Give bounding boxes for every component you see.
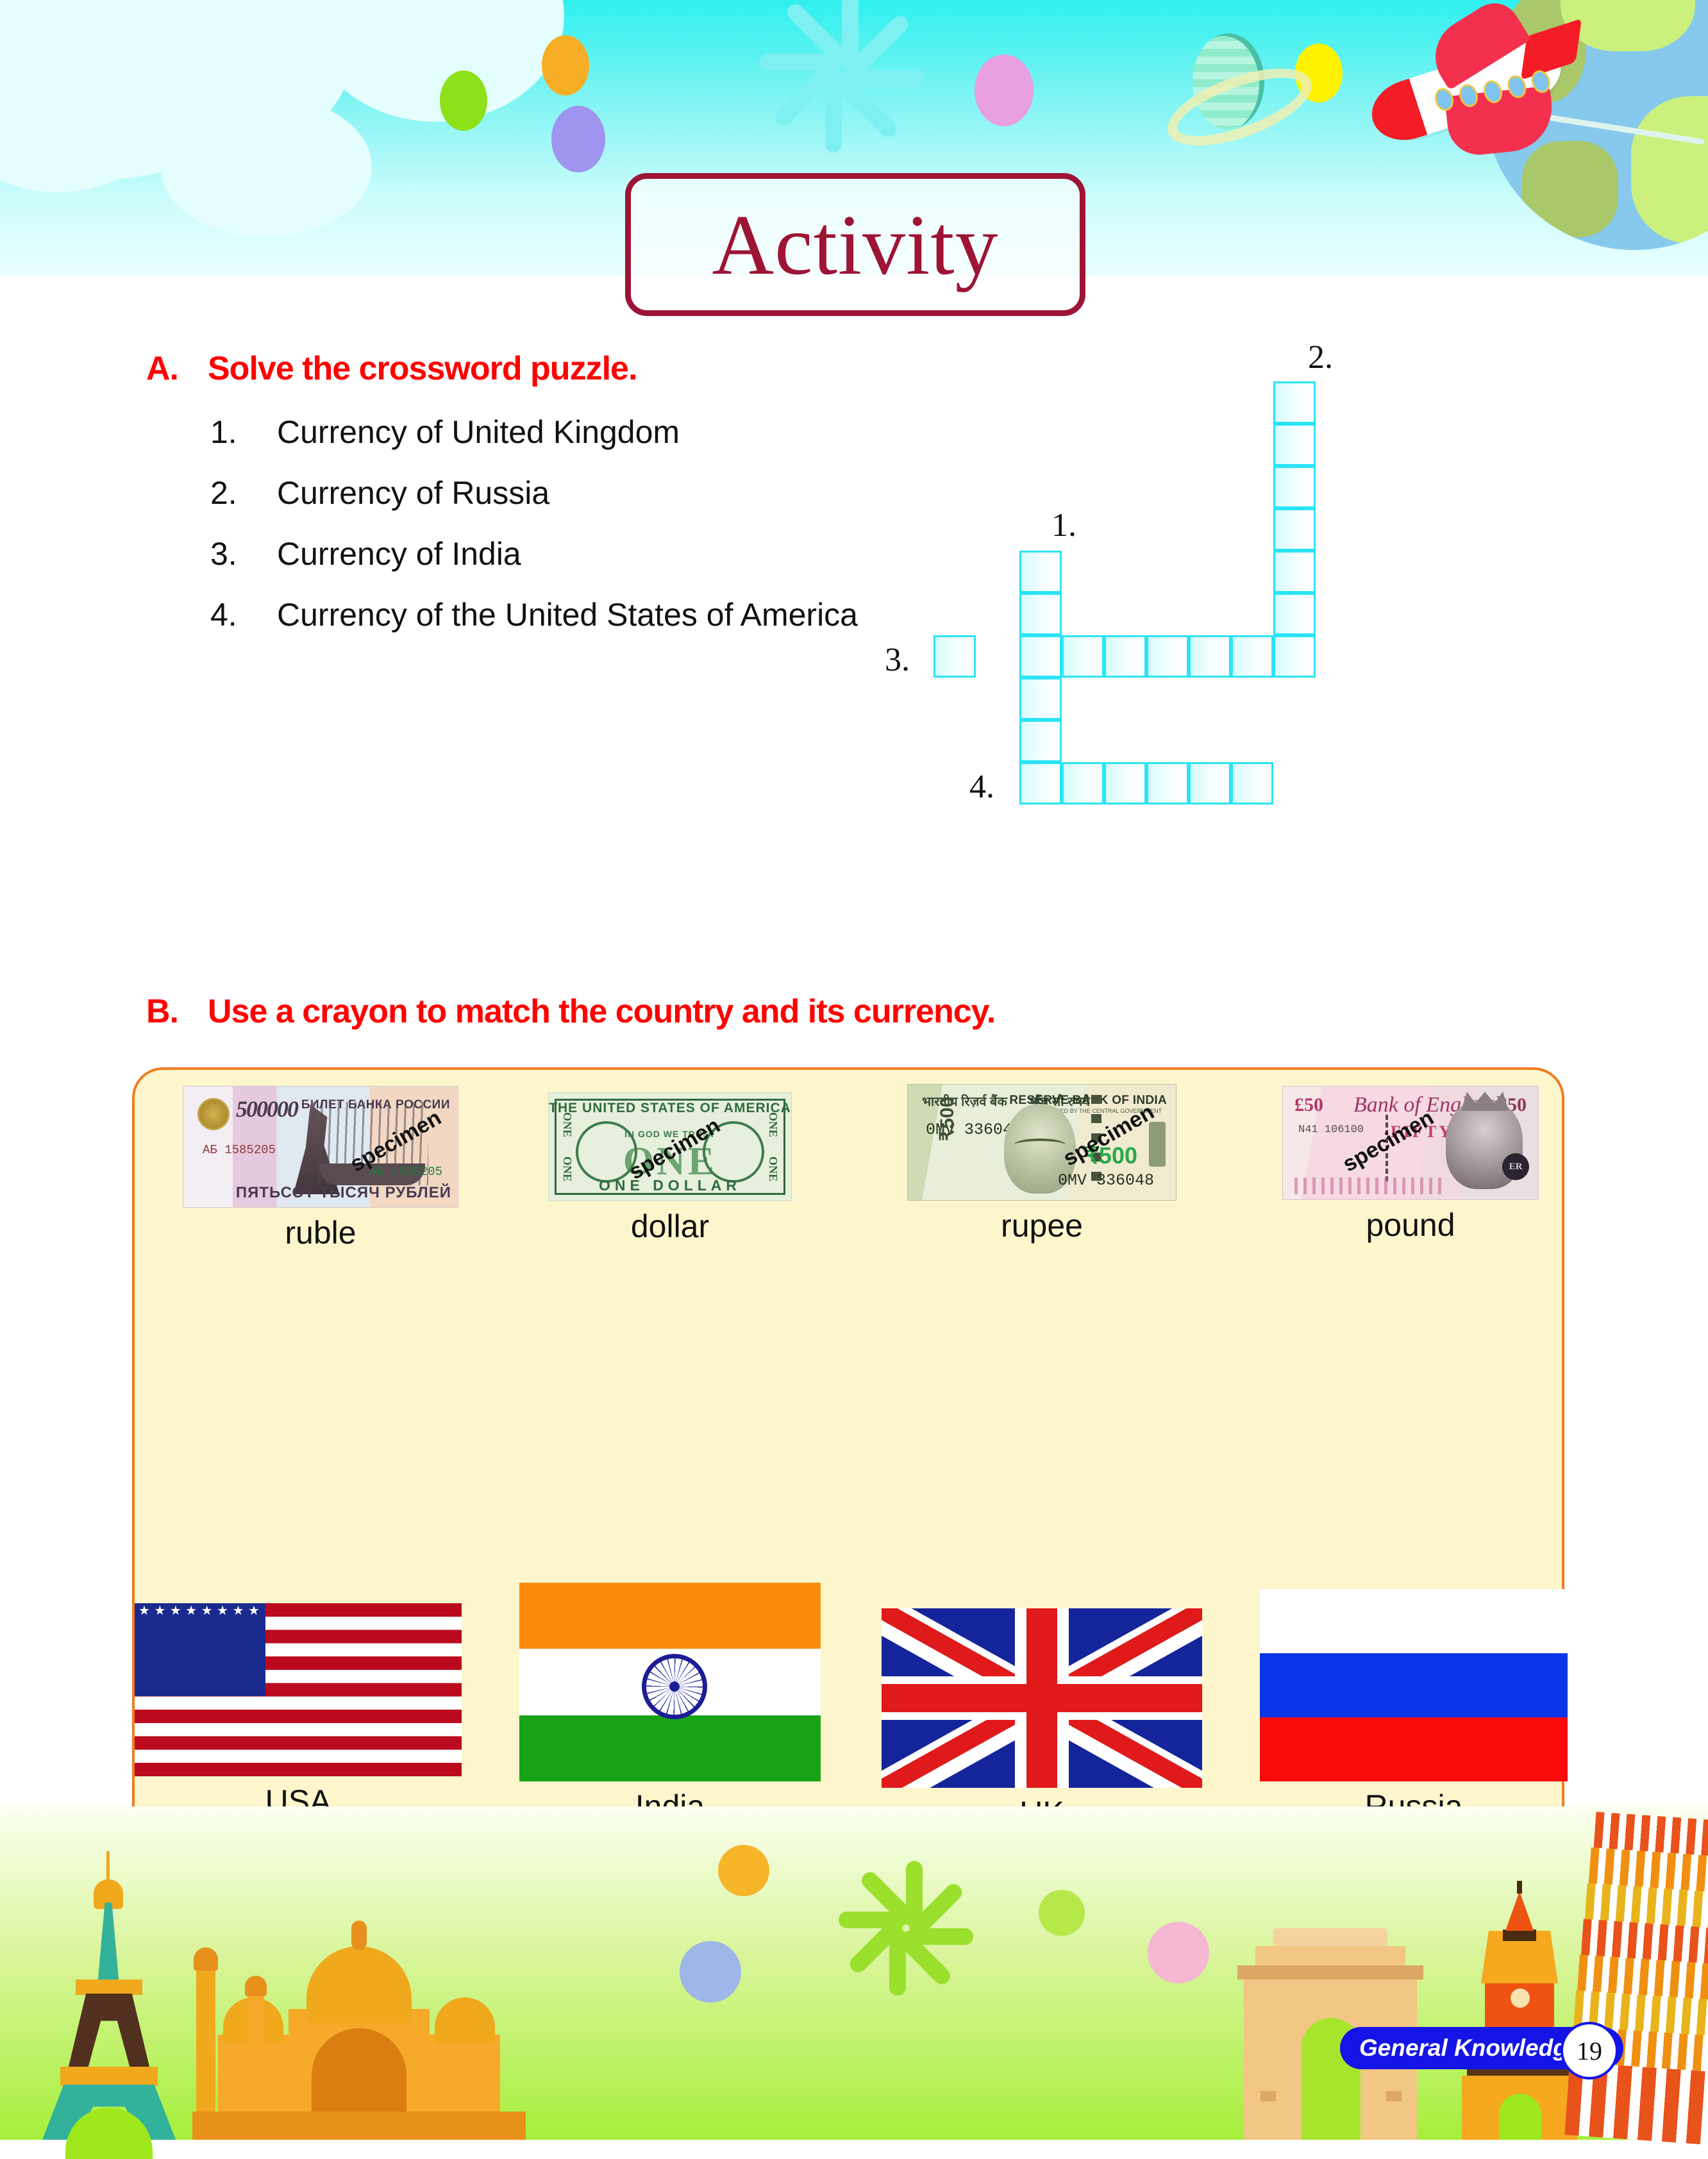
- crossword-cell[interactable]: [1062, 762, 1104, 804]
- crossword-cell[interactable]: [1231, 762, 1273, 804]
- pound-denomination-left: £50: [1294, 1094, 1323, 1116]
- dollar-corner-text: ONE: [560, 1112, 574, 1137]
- crossword-cell[interactable]: [1019, 678, 1062, 720]
- clue-text: Currency of Russia: [277, 475, 549, 511]
- india-flag: [519, 1583, 821, 1781]
- crossword-cell[interactable]: [1231, 635, 1273, 678]
- dollar-corner-text: ONE: [766, 1112, 780, 1137]
- section-b-letter: B.: [146, 992, 208, 1031]
- pound-monogram: ER: [1502, 1153, 1529, 1180]
- decorative-dot: [542, 35, 589, 96]
- decorative-dot: [975, 54, 1034, 126]
- currency-item-rupee[interactable]: भारतीय रिज़र्व बैंक पाँच सौ रुपये RESERV…: [907, 1084, 1176, 1244]
- rupee-vertical-amount: ₹500: [936, 1097, 959, 1141]
- clue-text: Currency of India: [277, 536, 521, 572]
- currency-label-dollar: dollar: [548, 1208, 792, 1245]
- rupee-banknote: भारतीय रिज़र्व बैंक पाँच सौ रुपये RESERV…: [907, 1084, 1176, 1201]
- taj-mahal-icon: [192, 1903, 526, 2140]
- currency-label-rupee: rupee: [907, 1207, 1176, 1244]
- airplane-icon: [1368, 33, 1569, 148]
- rupee-emblem-icon: [1149, 1122, 1166, 1167]
- crossword-cell[interactable]: [1019, 635, 1062, 678]
- matching-panel: 500000 БИЛЕТ БАНКА РОССИИ АБ 1585205 АБ …: [132, 1067, 1564, 1912]
- page-title: Activity: [712, 202, 998, 288]
- crossword-cell[interactable]: [1146, 635, 1189, 678]
- ruble-footer-text: ПЯТЬСОТ ТЫСЯЧ РУБЛЕЙ: [236, 1184, 451, 1202]
- country-item-russia[interactable]: Russia: [1186, 1589, 1641, 1825]
- crossword-cell[interactable]: [1062, 635, 1104, 678]
- crossword-cell[interactable]: [1189, 635, 1231, 678]
- crossword-cell[interactable]: [1273, 466, 1316, 508]
- crossword-cell[interactable]: [1273, 593, 1316, 635]
- ruble-coin-icon: [197, 1098, 230, 1130]
- pound-serial: N41 106100: [1298, 1124, 1364, 1136]
- crossword-cell[interactable]: [934, 635, 976, 678]
- currency-item-ruble[interactable]: 500000 БИЛЕТ БАНКА РОССИИ АБ 1585205 АБ …: [183, 1086, 458, 1251]
- crossword-cell[interactable]: [1019, 762, 1062, 804]
- crossword-cell[interactable]: [1273, 635, 1316, 678]
- currency-label-ruble: ruble: [183, 1214, 458, 1251]
- clue-number: 1.: [210, 413, 277, 451]
- section-b-heading: B.Use a crayon to match the country and …: [146, 992, 995, 1031]
- crossword-cell[interactable]: [1273, 508, 1316, 551]
- decorative-dot: [718, 1845, 769, 1896]
- crossword-cell[interactable]: [1019, 720, 1062, 762]
- pisa-tower-icon: [1564, 1777, 1708, 2145]
- ashoka-chakra-icon: [642, 1654, 707, 1719]
- pound-ornament-icon: [1294, 1178, 1442, 1194]
- page-title-box: Activity: [625, 173, 1085, 316]
- clue-item: 4.Currency of the United States of Ameri…: [210, 596, 858, 633]
- dollar-denomination: ONE DOLLAR: [549, 1177, 791, 1194]
- currency-item-dollar[interactable]: THE UNITED STATES OF AMERICA IN GOD WE T…: [548, 1092, 792, 1245]
- crossword-number-2: 2.: [1308, 338, 1333, 376]
- crossword-cell[interactable]: [1273, 381, 1316, 424]
- clue-item: 1.Currency of United Kingdom: [210, 413, 680, 451]
- section-a-heading-text: Solve the crossword puzzle.: [208, 350, 637, 387]
- crossword-cell[interactable]: [1273, 551, 1316, 593]
- starburst-shape: [737, 0, 930, 167]
- crossword-cell[interactable]: [1146, 762, 1189, 804]
- crossword-number-4: 4.: [969, 768, 994, 806]
- starburst-shape: [814, 1845, 981, 2012]
- currency-item-pound[interactable]: £50 Bank of England £50 N41 106100 FIFTY…: [1282, 1086, 1539, 1244]
- ruble-banknote: 500000 БИЛЕТ БАНКА РОССИИ АБ 1585205 АБ …: [183, 1086, 458, 1208]
- section-a-heading: A.Solve the crossword puzzle.: [146, 349, 637, 388]
- rupee-serial-2: 0MV 336048: [1058, 1171, 1154, 1190]
- eiffel-tower-icon: [38, 1851, 180, 2140]
- clue-item: 2.Currency of Russia: [210, 474, 549, 512]
- dollar-country-text: THE UNITED STATES OF AMERICA: [549, 1101, 791, 1116]
- section-b-heading-text: Use a crayon to match the country and it…: [208, 993, 995, 1030]
- clue-text: Currency of United Kingdom: [277, 414, 680, 450]
- decorative-dot: [551, 106, 605, 172]
- clue-number: 4.: [210, 596, 277, 633]
- russia-flag: [1260, 1589, 1568, 1781]
- page-number: 19: [1561, 2022, 1618, 2080]
- decorative-dot: [1148, 1922, 1209, 1983]
- dollar-pyramid-seal-icon: [576, 1121, 637, 1183]
- crossword-cell[interactable]: [1104, 635, 1146, 678]
- usa-canton-icon: ★★★★★★★★★★★★★★★★★★★★★★★★★★★★★★★★★★★★★★★★…: [135, 1603, 265, 1696]
- ruble-serial: АБ 1585205: [203, 1143, 276, 1157]
- ruble-serial-2: АБ 1585205: [369, 1165, 442, 1179]
- ruble-amount: 500000: [236, 1096, 297, 1122]
- clue-number: 3.: [210, 535, 277, 572]
- cloud-shape: [160, 96, 372, 237]
- decorative-dot: [440, 71, 487, 131]
- currency-label-pound: pound: [1282, 1206, 1539, 1244]
- crossword-cell[interactable]: [1019, 593, 1062, 635]
- rupee-hindi-bank: भारतीय रिज़र्व बैंक: [922, 1092, 1007, 1110]
- clue-item: 3.Currency of India: [210, 535, 521, 572]
- decorative-dot: [1039, 1890, 1085, 1936]
- crossword-cell[interactable]: [1104, 762, 1146, 804]
- clue-number: 2.: [210, 474, 277, 512]
- usa-flag: ★★★★★★★★★★★★★★★★★★★★★★★★★★★★★★★★★★★★★★★★…: [135, 1603, 462, 1776]
- crossword-number-1: 1.: [1051, 506, 1076, 544]
- crossword-number-3: 3.: [885, 641, 910, 679]
- crossword-cell[interactable]: [1189, 762, 1231, 804]
- crossword-cell[interactable]: [1019, 551, 1062, 593]
- uk-flag: [882, 1608, 1202, 1788]
- pound-banknote: £50 Bank of England £50 N41 106100 FIFTY…: [1282, 1086, 1539, 1200]
- decorative-dot: [680, 1941, 741, 2003]
- cloud-shape: [308, 0, 564, 122]
- section-a-letter: A.: [146, 349, 208, 388]
- clue-text: Currency of the United States of America: [277, 597, 858, 633]
- crossword-cell[interactable]: [1273, 424, 1316, 466]
- dollar-banknote: THE UNITED STATES OF AMERICA IN GOD WE T…: [548, 1092, 792, 1201]
